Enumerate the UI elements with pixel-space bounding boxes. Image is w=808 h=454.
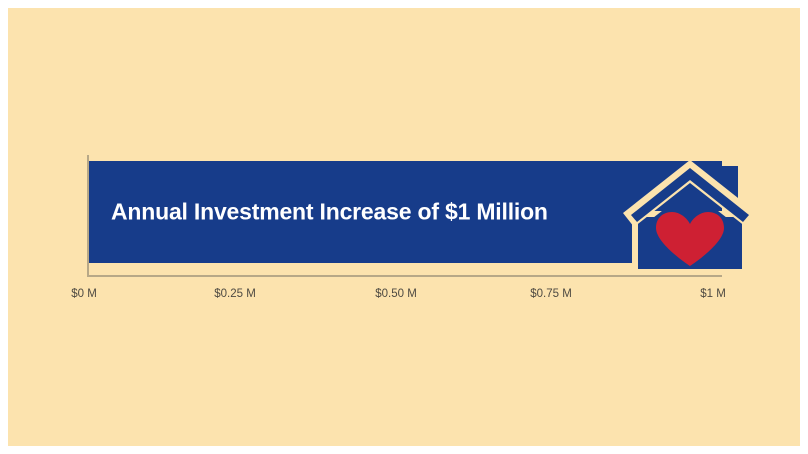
x-axis-line <box>87 275 722 277</box>
bar-annual-investment[interactable]: Annual Investment Increase of $1 Million <box>89 161 722 263</box>
slide-canvas: Annual Investment Increase of $1 Million <box>8 8 800 446</box>
bar-chart: Annual Investment Increase of $1 Million <box>8 8 800 446</box>
x-tick-label-2: $0.50 M <box>375 288 417 300</box>
x-tick-label-0: $0 M <box>71 288 97 300</box>
x-tick-label-4: $1 M <box>700 288 726 300</box>
x-axis-tick-labels: $0 M $0.25 M $0.50 M $0.75 M $1 M <box>8 288 800 308</box>
slide-frame: Annual Investment Increase of $1 Million <box>0 0 808 454</box>
bar-data-label: Annual Investment Increase of $1 Million <box>111 199 548 226</box>
x-tick-label-3: $0.75 M <box>530 288 572 300</box>
x-tick-label-1: $0.25 M <box>214 288 256 300</box>
